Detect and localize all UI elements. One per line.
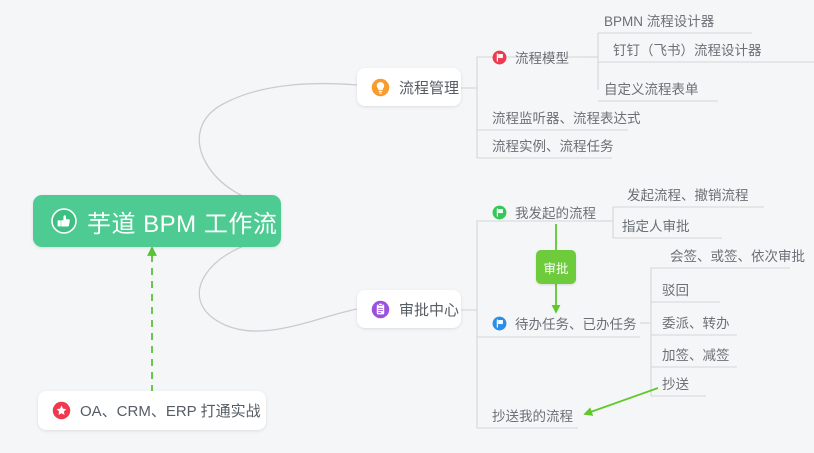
node-bpmn-designer[interactable]: BPMN 流程设计器 bbox=[602, 7, 714, 33]
node-start-cancel-process[interactable]: 发起流程、撤销流程 bbox=[625, 181, 749, 207]
node-dingtalk-feishu-designer[interactable]: 钉钉（飞书）流程设计器 bbox=[611, 36, 762, 62]
node-label: 自定义流程表单 bbox=[604, 78, 699, 98]
underline-countersign bbox=[651, 268, 790, 273]
node-process-model[interactable]: 流程模型 bbox=[492, 44, 569, 70]
root-label: 芋道 BPM 工作流 bbox=[87, 204, 277, 239]
node-add-remove-sign[interactable]: 加签、减签 bbox=[660, 341, 730, 367]
node-todo-done-task[interactable]: 待办任务、已办任务 bbox=[492, 310, 637, 336]
node-approval-center[interactable]: 审批中心 bbox=[357, 290, 461, 328]
flag-icon bbox=[492, 316, 507, 331]
node-label: 会签、或签、依次审批 bbox=[670, 245, 805, 265]
node-label: 发起流程、撤销流程 bbox=[627, 184, 749, 204]
node-label: OA、CRM、ERP 打通实战 bbox=[80, 400, 261, 421]
edge-root-to-approval-center bbox=[199, 237, 357, 331]
approval-badge-label: 审批 bbox=[543, 258, 568, 277]
clipboard-icon bbox=[371, 300, 390, 319]
node-footnote[interactable]: OA、CRM、ERP 打通实战 bbox=[38, 391, 266, 430]
flag-icon bbox=[492, 50, 507, 65]
node-assignee-approval[interactable]: 指定人审批 bbox=[620, 212, 690, 238]
node-delegate-transfer[interactable]: 委派、转办 bbox=[660, 309, 730, 335]
arrow-cc-to-cc-my-process bbox=[585, 388, 658, 414]
node-label: 委派、转办 bbox=[662, 312, 730, 332]
node-label: 流程管理 bbox=[399, 77, 459, 98]
node-instance-task[interactable]: 流程实例、流程任务 bbox=[490, 132, 614, 158]
node-cc[interactable]: 抄送 bbox=[660, 370, 689, 396]
node-countersign[interactable]: 会签、或签、依次审批 bbox=[668, 242, 805, 268]
node-label: BPMN 流程设计器 bbox=[604, 10, 714, 30]
node-custom-process-form[interactable]: 自定义流程表单 bbox=[602, 75, 699, 101]
mindmap-canvas: 芋道 BPM 工作流 流程管理 流程模型 流程监听器、流程表达式 流程实例、流 bbox=[0, 0, 814, 453]
node-label: 驳回 bbox=[662, 279, 689, 299]
lightbulb-icon bbox=[371, 78, 390, 97]
node-label: 我发起的流程 bbox=[515, 202, 596, 222]
thumbs-up-icon bbox=[51, 208, 77, 234]
root-node[interactable]: 芋道 BPM 工作流 bbox=[33, 195, 281, 247]
flag-icon bbox=[492, 205, 507, 220]
node-label: 待办任务、已办任务 bbox=[515, 313, 637, 333]
node-label: 抄送我的流程 bbox=[492, 405, 573, 425]
node-label: 钉钉（飞书）流程设计器 bbox=[613, 39, 762, 59]
node-listener-expression[interactable]: 流程监听器、流程表达式 bbox=[490, 104, 641, 130]
node-label: 审批中心 bbox=[399, 299, 459, 320]
node-process-management[interactable]: 流程管理 bbox=[357, 68, 461, 106]
edge-root-to-process-management bbox=[199, 84, 357, 207]
node-label: 流程实例、流程任务 bbox=[492, 135, 614, 155]
node-label: 流程监听器、流程表达式 bbox=[492, 107, 641, 127]
node-my-started-process[interactable]: 我发起的流程 bbox=[492, 199, 596, 225]
node-label: 流程模型 bbox=[515, 47, 569, 67]
star-icon bbox=[52, 401, 71, 420]
node-label: 加签、减签 bbox=[662, 344, 730, 364]
node-label: 抄送 bbox=[662, 373, 689, 393]
node-reject[interactable]: 驳回 bbox=[660, 276, 689, 302]
node-cc-to-me-process[interactable]: 抄送我的流程 bbox=[490, 402, 573, 428]
approval-badge[interactable]: 审批 bbox=[536, 250, 576, 284]
node-label: 指定人审批 bbox=[622, 215, 690, 235]
